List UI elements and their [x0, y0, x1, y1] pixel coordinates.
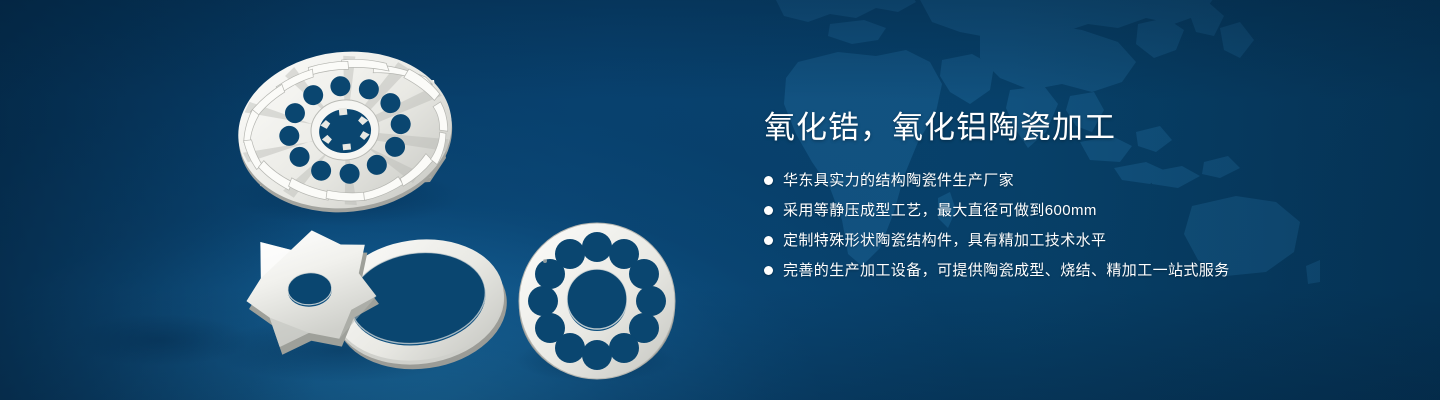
list-item: 完善的生产加工设备，可提供陶瓷成型、烧结、精加工一站式服务 [764, 260, 1384, 281]
page-title: 氧化锆，氧化铝陶瓷加工 [764, 108, 1384, 148]
list-item: 华东具实力的结构陶瓷件生产厂家 [764, 170, 1384, 191]
feature-list: 华东具实力的结构陶瓷件生产厂家 采用等静压成型工艺，最大直径可做到600mm 定… [764, 170, 1384, 281]
feature-text: 完善的生产加工设备，可提供陶瓷成型、烧结、精加工一站式服务 [783, 260, 1230, 281]
ceramic-processing-banner: 氧化锆，氧化铝陶瓷加工 华东具实力的结构陶瓷件生产厂家 采用等静压成型工艺，最大… [0, 0, 1440, 400]
banner-copy-block: 氧化锆，氧化铝陶瓷加工 华东具实力的结构陶瓷件生产厂家 采用等静压成型工艺，最大… [764, 108, 1384, 281]
bullet-dot-icon [764, 236, 773, 245]
feature-text: 华东具实力的结构陶瓷件生产厂家 [783, 170, 1014, 191]
feature-text: 采用等静压成型工艺，最大直径可做到600mm [783, 200, 1097, 221]
list-item: 采用等静压成型工艺，最大直径可做到600mm [764, 200, 1384, 221]
bullet-dot-icon [764, 176, 773, 185]
feature-text: 定制特殊形状陶瓷结构件，具有精加工技术水平 [783, 230, 1106, 251]
bullet-dot-icon [764, 206, 773, 215]
bullet-dot-icon [764, 266, 773, 275]
list-item: 定制特殊形状陶瓷结构件，具有精加工技术水平 [764, 230, 1384, 251]
